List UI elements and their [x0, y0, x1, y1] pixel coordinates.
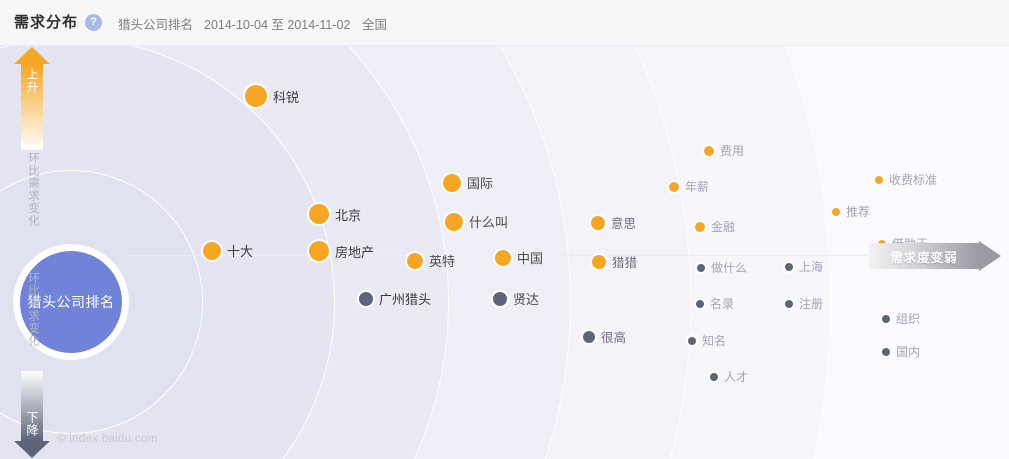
falling-dot-icon: [882, 315, 890, 323]
rising-arrow: 上升: [14, 47, 50, 150]
demand-node[interactable]: 英特: [407, 251, 455, 270]
demand-node[interactable]: 很高: [583, 327, 626, 346]
falling-arrow-label: 下降: [25, 411, 39, 437]
falling-arrow-shaft: 下降: [21, 371, 43, 441]
demand-node[interactable]: 名录: [696, 295, 734, 312]
demand-node-label: 收费标准: [889, 171, 937, 188]
rising-dot-icon: [443, 174, 461, 192]
falling-dot-icon: [785, 300, 793, 308]
rising-dot-icon: [592, 255, 606, 269]
demand-node-label: 推荐: [846, 203, 870, 220]
demand-node[interactable]: 意思: [591, 213, 636, 232]
arrow-up-icon: [14, 47, 50, 64]
demand-node[interactable]: 组织: [882, 310, 920, 327]
demand-node[interactable]: 猎猎: [592, 252, 637, 271]
rising-dot-icon: [407, 253, 423, 269]
demand-node[interactable]: 房地产: [309, 241, 374, 261]
rising-dot-icon: [832, 208, 840, 216]
demand-node[interactable]: 什么叫: [445, 212, 508, 231]
rising-dot-icon: [309, 241, 329, 261]
demand-node-label: 中国: [517, 248, 543, 267]
demand-distribution-chart: 猎头公司排名 科锐十大北京房地产广州猎头国际什么叫英特中国贤达意思猎猎很高费用年…: [0, 46, 1009, 459]
demand-node-label: 贤达: [513, 289, 539, 308]
falling-dot-icon: [359, 292, 373, 306]
arrow-down-icon: [14, 441, 50, 458]
demand-node[interactable]: 北京: [309, 204, 361, 224]
vertical-axis-label-top: 环比需求变化: [25, 152, 41, 227]
demand-node[interactable]: 上海: [785, 258, 823, 275]
demand-node-label: 广州猎头: [379, 289, 431, 308]
vertical-axis: 上升 环比需求变化 环比需求变化 下降: [14, 47, 50, 458]
demand-node[interactable]: 收费标准: [875, 171, 937, 188]
watermark: © index.baidu.com: [57, 433, 158, 445]
demand-node[interactable]: 十大: [203, 241, 253, 260]
demand-node-label: 名录: [710, 295, 734, 312]
falling-dot-icon: [493, 292, 507, 306]
demand-node[interactable]: 年薪: [669, 178, 709, 195]
falling-dot-icon: [882, 348, 890, 356]
header-region: 全国: [362, 14, 387, 33]
rising-dot-icon: [495, 250, 511, 266]
header-keyword: 猎头公司排名: [118, 14, 193, 33]
falling-arrow: 下降: [14, 371, 50, 458]
demand-node[interactable]: 推荐: [832, 203, 870, 220]
demand-node-label: 英特: [429, 251, 455, 270]
demand-node-label: 意思: [611, 213, 636, 232]
falling-dot-icon: [696, 300, 704, 308]
falling-dot-icon: [688, 337, 696, 345]
demand-node[interactable]: 广州猎头: [359, 289, 431, 308]
demand-node[interactable]: 注册: [785, 295, 823, 312]
demand-node-label: 什么叫: [469, 212, 508, 231]
falling-dot-icon: [785, 263, 793, 271]
demand-node-label: 很高: [601, 327, 626, 346]
demand-node-label: 猎猎: [612, 252, 637, 271]
demand-node-label: 上海: [799, 258, 823, 275]
demand-node-label: 北京: [335, 205, 361, 224]
header-date-range: 2014-10-04 至 2014-11-02: [204, 14, 350, 33]
demand-node-label: 人才: [724, 368, 748, 385]
demand-node[interactable]: 贤达: [493, 289, 539, 308]
horizontal-baseline: [128, 255, 998, 256]
rising-dot-icon: [591, 216, 605, 230]
rising-dot-icon: [245, 85, 267, 107]
demand-node[interactable]: 国内: [882, 343, 920, 360]
page-header: 需求分布 ? 猎头公司排名 2014-10-04 至 2014-11-02 全国: [0, 0, 1009, 46]
rising-dot-icon: [695, 222, 705, 232]
demand-node-label: 注册: [799, 295, 823, 312]
demand-node-label: 国际: [467, 173, 493, 192]
rising-dot-icon: [669, 182, 679, 192]
rising-arrow-shaft: 上升: [21, 64, 43, 150]
demand-node[interactable]: 人才: [710, 368, 748, 385]
demand-node-label: 费用: [720, 142, 744, 159]
vertical-axis-label-bottom: 环比需求变化: [25, 272, 41, 347]
demand-node-label: 科锐: [273, 87, 299, 106]
demand-node[interactable]: 科锐: [245, 85, 299, 107]
rising-dot-icon: [875, 176, 883, 184]
demand-node-label: 金融: [711, 218, 735, 235]
demand-distribution-page: 需求分布 ? 猎头公司排名 2014-10-04 至 2014-11-02 全国…: [0, 0, 1009, 459]
demand-node[interactable]: 知名: [688, 332, 726, 349]
falling-dot-icon: [583, 331, 595, 343]
falling-dot-icon: [697, 264, 705, 272]
demand-node[interactable]: 金融: [695, 218, 735, 235]
rising-arrow-label: 上升: [25, 68, 39, 94]
demand-node-label: 国内: [896, 343, 920, 360]
demand-node[interactable]: 中国: [495, 248, 543, 267]
question-mark-icon[interactable]: ?: [85, 14, 102, 31]
demand-node-label: 组织: [896, 310, 920, 327]
page-title: 需求分布: [14, 11, 78, 32]
rising-dot-icon: [203, 242, 221, 260]
demand-weakening-arrow: 需求度变弱: [869, 241, 1001, 271]
demand-node-label: 房地产: [335, 242, 374, 261]
demand-node[interactable]: 国际: [443, 173, 493, 192]
demand-weakening-arrow-body: 需求度变弱: [869, 243, 979, 269]
demand-node-label: 做什么: [711, 259, 747, 276]
demand-node-label: 年薪: [685, 178, 709, 195]
demand-weakening-arrow-label: 需求度变弱: [890, 247, 958, 266]
demand-node[interactable]: 费用: [704, 142, 744, 159]
demand-node-label: 十大: [227, 241, 253, 260]
falling-dot-icon: [710, 373, 718, 381]
rising-dot-icon: [309, 204, 329, 224]
demand-node[interactable]: 做什么: [697, 259, 747, 276]
rising-dot-icon: [445, 213, 463, 231]
demand-node-label: 知名: [702, 332, 726, 349]
rising-dot-icon: [704, 146, 714, 156]
arrow-right-icon: [979, 241, 1001, 271]
